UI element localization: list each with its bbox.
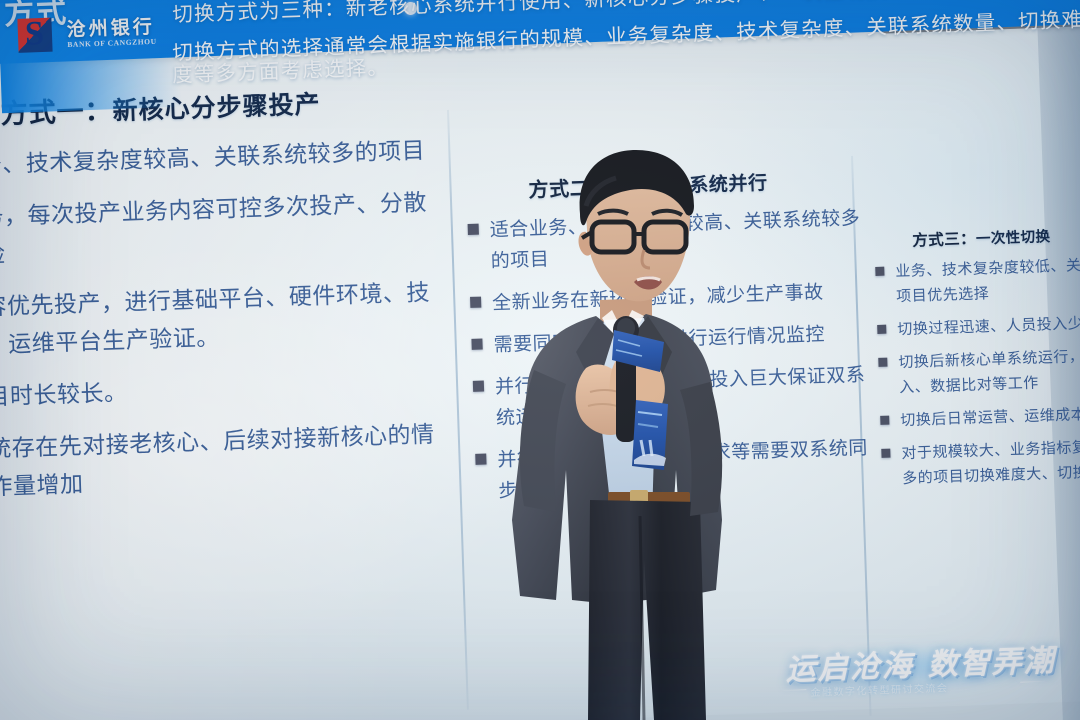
logo-glyph: S: [24, 15, 58, 54]
speaker-trousers: [588, 500, 706, 720]
event-logo: 运启沧海数智弄潮 金融数字化转型研讨交流会: [777, 631, 1076, 720]
event-title-right: 数智弄潮: [927, 643, 1056, 682]
bank-name-en: BANK OF CANGZHOU: [67, 37, 157, 50]
bank-logo-text: 沧州银行 BANK OF CANGZHOU: [66, 17, 156, 50]
bank-logo: S 沧州银行 BANK OF CANGZHOU: [17, 9, 175, 59]
presentation-photo: 方式一：新核心分步骤投产 适合业务、技术复杂度较高、关联系统较多的项目 拆分业务…: [0, 0, 1080, 720]
speaker-figure: [0, 0, 1080, 720]
bank-logo-mark-icon: S: [17, 15, 60, 57]
